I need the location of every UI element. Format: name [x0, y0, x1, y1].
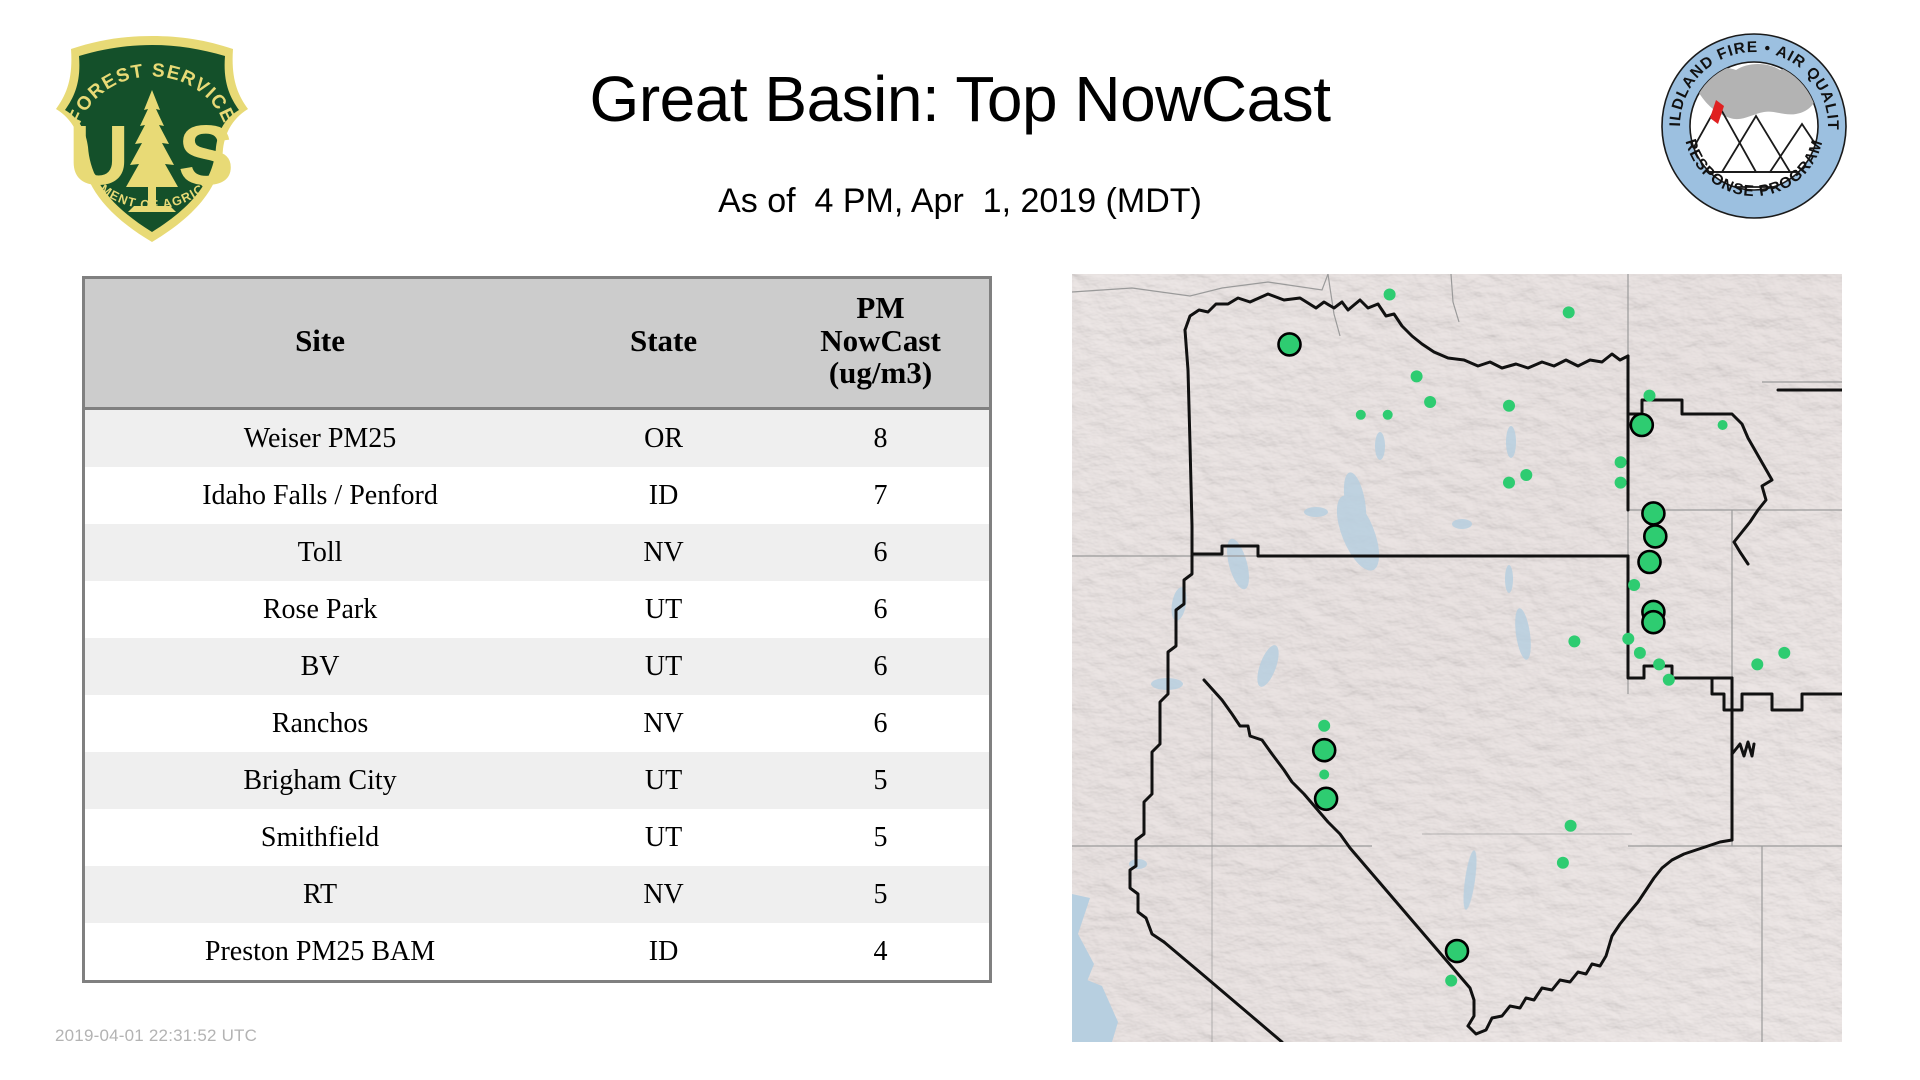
- cell-pm_nowcast: 6: [772, 581, 989, 638]
- cell-state: UT: [555, 809, 772, 866]
- page-title: Great Basin: Top NowCast: [0, 62, 1920, 136]
- monitor-marker[interactable]: [1631, 414, 1653, 436]
- monitor-marker[interactable]: [1557, 857, 1569, 869]
- cell-site: RT: [85, 866, 555, 923]
- cell-pm_nowcast: 6: [772, 524, 989, 581]
- cell-site: Brigham City: [85, 752, 555, 809]
- column-header-site: Site: [85, 279, 555, 409]
- top-nowcast-table: Site State PM NowCast (ug/m3) Weiser PM2…: [82, 276, 992, 983]
- cell-state: ID: [555, 467, 772, 524]
- cell-state: UT: [555, 752, 772, 809]
- table-row: RanchosNV6: [85, 695, 989, 752]
- cell-state: NV: [555, 866, 772, 923]
- monitor-marker[interactable]: [1279, 333, 1301, 355]
- cell-state: OR: [555, 409, 772, 468]
- table-row: BVUT6: [85, 638, 989, 695]
- cell-state: ID: [555, 923, 772, 980]
- cell-site: Toll: [85, 524, 555, 581]
- cell-site: Preston PM25 BAM: [85, 923, 555, 980]
- monitor-marker[interactable]: [1384, 289, 1396, 301]
- cell-pm_nowcast: 4: [772, 923, 989, 980]
- table-header-row: Site State PM NowCast (ug/m3): [85, 279, 989, 409]
- monitor-marker[interactable]: [1319, 770, 1329, 780]
- table-row: RTNV5: [85, 866, 989, 923]
- cell-pm_nowcast: 5: [772, 752, 989, 809]
- monitor-marker[interactable]: [1383, 410, 1393, 420]
- monitor-marker[interactable]: [1663, 674, 1675, 686]
- monitor-marker[interactable]: [1411, 370, 1423, 382]
- cell-state: NV: [555, 695, 772, 752]
- table-row: SmithfieldUT5: [85, 809, 989, 866]
- cell-site: Smithfield: [85, 809, 555, 866]
- cell-state: UT: [555, 581, 772, 638]
- monitor-marker[interactable]: [1644, 390, 1656, 402]
- monitor-marker[interactable]: [1615, 477, 1627, 489]
- monitor-marker[interactable]: [1315, 788, 1337, 810]
- monitor-marker[interactable]: [1642, 611, 1664, 633]
- column-header-state: State: [555, 279, 772, 409]
- monitor-marker[interactable]: [1446, 940, 1468, 962]
- monitor-marker[interactable]: [1778, 647, 1790, 659]
- table-row: TollNV6: [85, 524, 989, 581]
- monitor-marker[interactable]: [1622, 633, 1634, 645]
- monitor-marker[interactable]: [1615, 456, 1627, 468]
- monitor-marker[interactable]: [1424, 396, 1436, 408]
- cell-site: Ranchos: [85, 695, 555, 752]
- monitor-marker[interactable]: [1563, 306, 1575, 318]
- cell-pm_nowcast: 5: [772, 809, 989, 866]
- monitor-marker[interactable]: [1718, 420, 1728, 430]
- table-row: Brigham CityUT5: [85, 752, 989, 809]
- monitor-marker[interactable]: [1644, 525, 1666, 547]
- cell-state: UT: [555, 638, 772, 695]
- monitor-marker[interactable]: [1751, 658, 1763, 670]
- monitor-marker[interactable]: [1318, 720, 1330, 732]
- monitor-marker[interactable]: [1503, 477, 1515, 489]
- monitor-marker[interactable]: [1313, 739, 1335, 761]
- cell-pm_nowcast: 7: [772, 467, 989, 524]
- monitor-marker[interactable]: [1642, 502, 1664, 524]
- cell-site: Rose Park: [85, 581, 555, 638]
- monitor-marker[interactable]: [1565, 820, 1577, 832]
- monitor-marker[interactable]: [1568, 635, 1580, 647]
- column-header-pm-nowcast: PM NowCast (ug/m3): [772, 279, 989, 409]
- monitor-marker[interactable]: [1653, 658, 1665, 670]
- cell-pm_nowcast: 6: [772, 695, 989, 752]
- monitor-marker[interactable]: [1520, 469, 1532, 481]
- monitor-marker[interactable]: [1634, 647, 1646, 659]
- cell-pm_nowcast: 8: [772, 409, 989, 468]
- table-row: Rose ParkUT6: [85, 581, 989, 638]
- cell-state: NV: [555, 524, 772, 581]
- cell-site: Weiser PM25: [85, 409, 555, 468]
- table-row: Idaho Falls / PenfordID7: [85, 467, 989, 524]
- cell-site: Idaho Falls / Penford: [85, 467, 555, 524]
- cell-site: BV: [85, 638, 555, 695]
- table-row: Preston PM25 BAMID4: [85, 923, 989, 980]
- monitor-marker[interactable]: [1628, 579, 1640, 591]
- monitor-marker[interactable]: [1503, 400, 1515, 412]
- monitor-marker[interactable]: [1639, 551, 1661, 573]
- table-body: Weiser PM25OR8Idaho Falls / PenfordID7To…: [85, 409, 989, 981]
- page-subtitle: As of 4 PM, Apr 1, 2019 (MDT): [0, 182, 1920, 221]
- cell-pm_nowcast: 5: [772, 866, 989, 923]
- footer-timestamp: 2019-04-01 22:31:52 UTC: [55, 1026, 257, 1046]
- table-row: Weiser PM25OR8: [85, 409, 989, 468]
- cell-pm_nowcast: 6: [772, 638, 989, 695]
- great-basin-monitor-map[interactable]: [1072, 274, 1842, 1042]
- monitor-marker[interactable]: [1356, 410, 1366, 420]
- monitor-marker[interactable]: [1445, 975, 1457, 987]
